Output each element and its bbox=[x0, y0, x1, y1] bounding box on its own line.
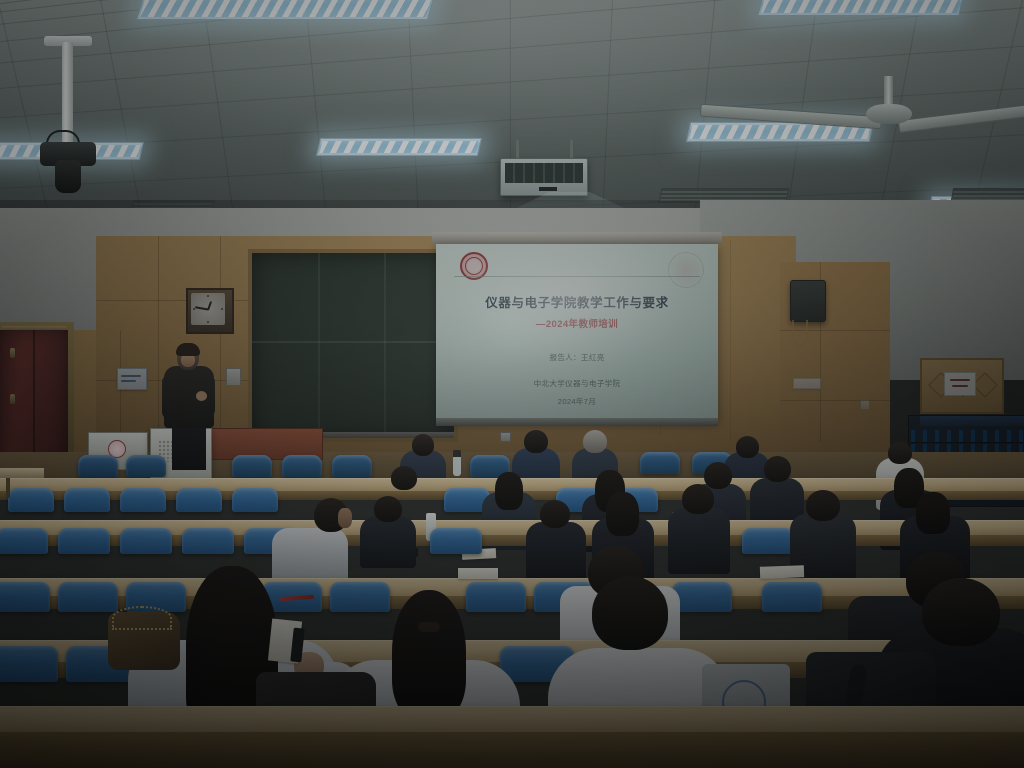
person-head bbox=[412, 434, 434, 456]
person-head bbox=[764, 456, 791, 482]
projector-lens-icon bbox=[539, 187, 557, 191]
chair[interactable] bbox=[0, 582, 50, 612]
person-torso bbox=[668, 508, 730, 574]
chair[interactable] bbox=[330, 582, 390, 612]
chair[interactable] bbox=[466, 582, 526, 612]
chair[interactable] bbox=[430, 528, 482, 554]
person-head bbox=[374, 496, 402, 522]
person-head bbox=[682, 484, 714, 514]
chair[interactable] bbox=[126, 455, 166, 477]
ceiling-light-panel bbox=[136, 0, 436, 20]
side-table bbox=[0, 468, 44, 478]
chair[interactable] bbox=[332, 455, 372, 477]
water-bottle bbox=[453, 450, 461, 476]
ceiling-projector bbox=[500, 158, 588, 196]
chair[interactable] bbox=[0, 528, 48, 554]
ceiling-light-panel bbox=[316, 138, 482, 156]
chair[interactable] bbox=[232, 488, 278, 512]
chair[interactable] bbox=[282, 455, 322, 477]
chair[interactable] bbox=[640, 452, 680, 474]
person-head bbox=[524, 430, 548, 453]
chair[interactable] bbox=[0, 646, 58, 682]
person-head bbox=[592, 576, 668, 650]
person-face bbox=[338, 508, 352, 528]
chair[interactable] bbox=[672, 582, 732, 612]
chair[interactable] bbox=[58, 528, 110, 554]
paper-handout bbox=[760, 565, 804, 579]
side-table-leg bbox=[6, 478, 10, 498]
chair[interactable] bbox=[78, 455, 118, 477]
paper-handout bbox=[458, 568, 498, 579]
chair[interactable] bbox=[120, 488, 166, 512]
chair[interactable] bbox=[182, 528, 234, 554]
ceiling-fan-icon bbox=[866, 104, 912, 124]
person-head bbox=[391, 466, 417, 490]
chair[interactable] bbox=[176, 488, 222, 512]
desk-row bbox=[0, 706, 1024, 733]
person-hair bbox=[606, 492, 639, 536]
chair[interactable] bbox=[120, 528, 172, 554]
chair[interactable] bbox=[64, 488, 110, 512]
chair[interactable] bbox=[58, 582, 118, 612]
chair[interactable] bbox=[762, 582, 822, 612]
desk-row-front bbox=[0, 732, 1024, 768]
person-head bbox=[806, 490, 840, 521]
projector-body bbox=[505, 163, 583, 183]
person-hair bbox=[495, 472, 523, 510]
person-long-hair bbox=[392, 590, 466, 718]
presenter-hair bbox=[176, 343, 200, 356]
projector-rod bbox=[570, 140, 573, 160]
chair[interactable] bbox=[232, 455, 272, 477]
person-head bbox=[736, 436, 759, 458]
person-torso bbox=[526, 522, 586, 584]
person-torso bbox=[360, 516, 416, 568]
person-head bbox=[583, 430, 607, 453]
bag-chain-icon bbox=[112, 606, 172, 630]
person-head bbox=[922, 578, 1000, 646]
presenter-hand bbox=[196, 391, 207, 401]
ceiling-light-panel bbox=[757, 0, 964, 16]
camera-lens-icon bbox=[55, 160, 81, 193]
lecture-hall-photo: 仪器与电子学院教学工作与要求 —2024年教师培训 报告人：王红亮 中北大学仪器… bbox=[0, 0, 1024, 768]
fan-rod bbox=[884, 76, 893, 106]
person-head bbox=[888, 442, 912, 464]
person-hair-tie bbox=[418, 622, 440, 632]
chair[interactable] bbox=[742, 528, 794, 554]
person-head bbox=[540, 500, 570, 528]
projector-rod bbox=[516, 140, 519, 160]
chair[interactable] bbox=[8, 488, 54, 512]
presenter-legs bbox=[172, 424, 206, 470]
person-head bbox=[704, 462, 732, 489]
person-hair bbox=[916, 492, 950, 534]
